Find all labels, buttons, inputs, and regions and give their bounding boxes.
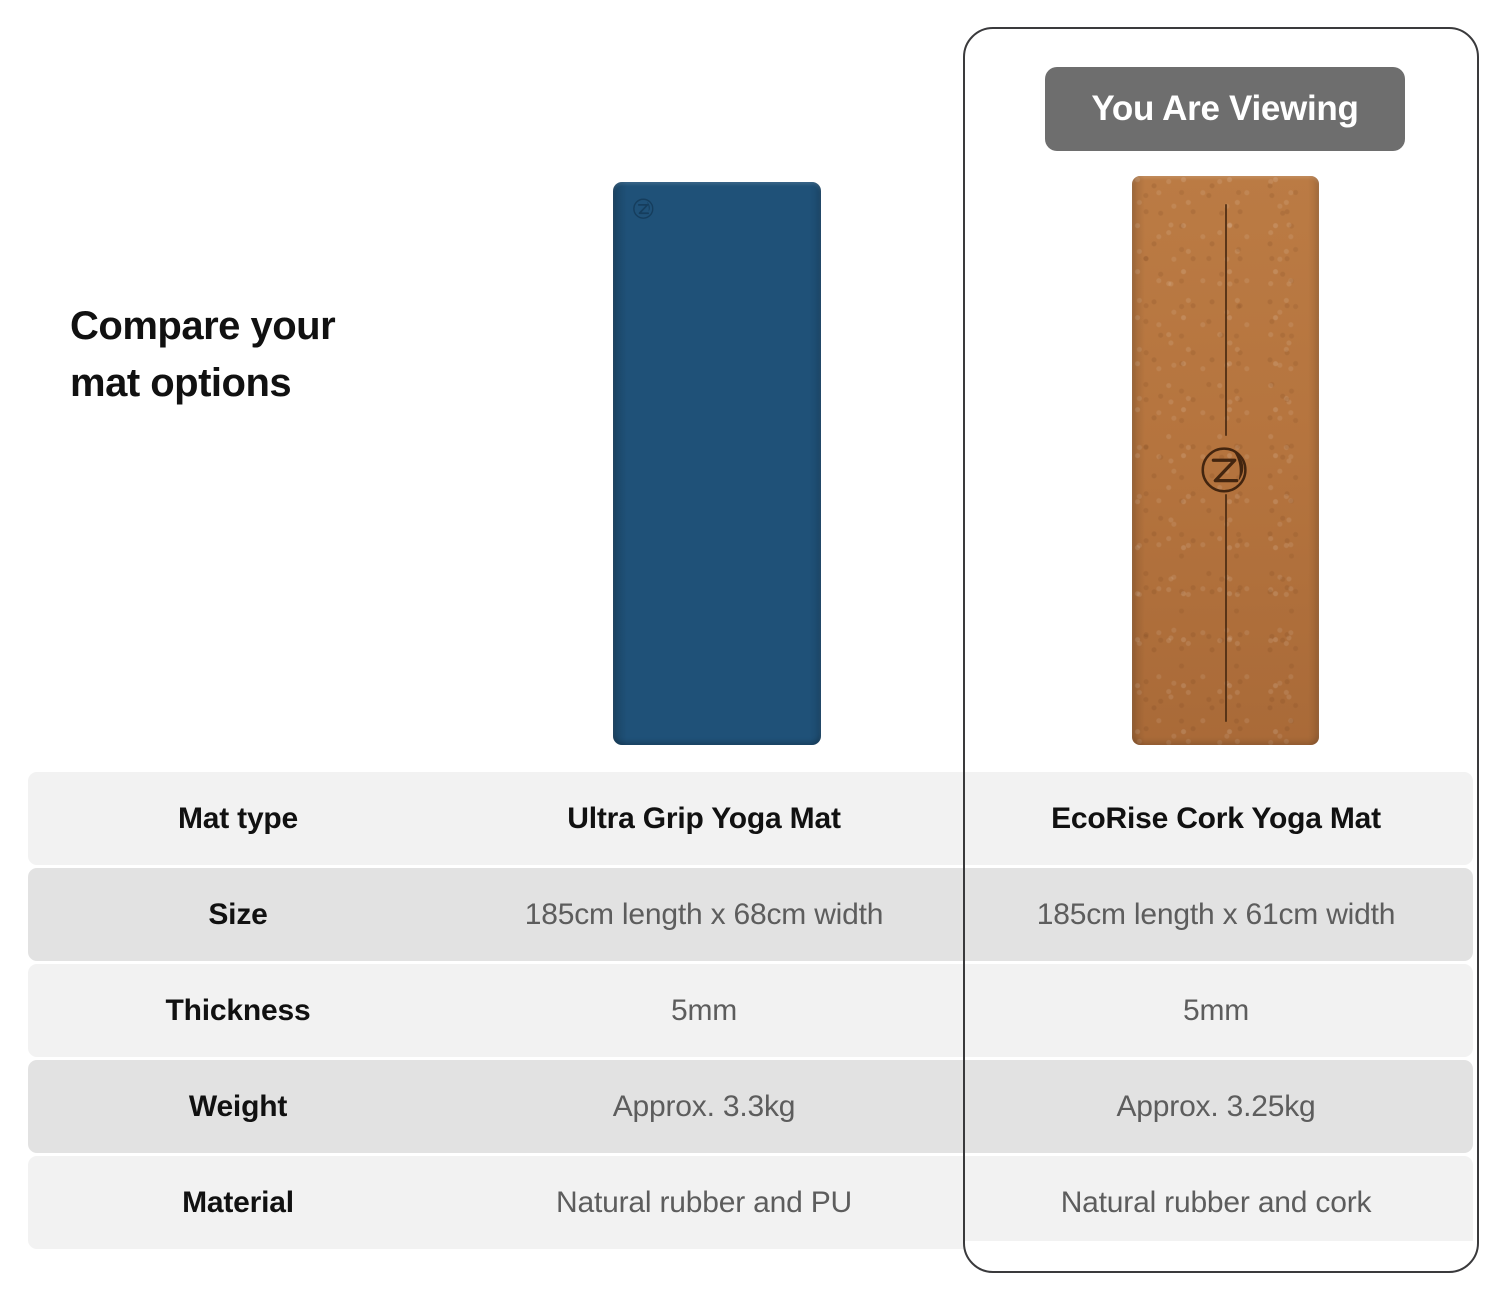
row-value-ultra-grip: 5mm — [448, 964, 960, 1057]
table-row: Mat type Ultra Grip Yoga Mat EcoRise Cor… — [28, 772, 1473, 865]
status-badge: You Are Viewing — [1045, 67, 1405, 151]
table-row: Weight Approx. 3.3kg Approx. 3.25kg — [28, 1060, 1473, 1153]
row-label: Weight — [28, 1060, 448, 1153]
row-value-ecorise-cork: Approx. 3.25kg — [960, 1060, 1472, 1153]
mat-alignment-line-upper — [1225, 204, 1227, 436]
row-label: Thickness — [28, 964, 448, 1057]
comparison-table: Mat type Ultra Grip Yoga Mat EcoRise Cor… — [28, 772, 1473, 1252]
mat-comparison-page: Compare your mat options Mat type Ultra … — [0, 0, 1500, 1313]
product-image-ultra-grip-yoga-mat[interactable] — [613, 182, 821, 745]
row-value-ecorise-cork: 185cm length x 61cm width — [960, 868, 1472, 961]
row-value-ultra-grip: Approx. 3.3kg — [448, 1060, 960, 1153]
page-title-line-2: mat options — [70, 355, 500, 412]
page-title: Compare your mat options — [70, 298, 500, 412]
z-leaf-logo-icon — [1195, 438, 1257, 500]
row-value-ecorise-cork: EcoRise Cork Yoga Mat — [960, 772, 1472, 865]
row-label: Material — [28, 1156, 448, 1249]
page-title-line-1: Compare your — [70, 298, 500, 355]
table-row: Thickness 5mm 5mm — [28, 964, 1473, 1057]
product-image-ecorise-cork-yoga-mat[interactable] — [1132, 176, 1319, 745]
row-label: Mat type — [28, 772, 448, 865]
row-value-ecorise-cork: 5mm — [960, 964, 1472, 1057]
row-label: Size — [28, 868, 448, 961]
row-value-ecorise-cork: Natural rubber and cork — [960, 1156, 1472, 1249]
mat-alignment-line-lower — [1225, 494, 1227, 722]
z-leaf-logo-icon — [630, 194, 658, 222]
table-row: Material Natural rubber and PU Natural r… — [28, 1156, 1473, 1249]
row-value-ultra-grip: Natural rubber and PU — [448, 1156, 960, 1249]
status-badge-label: You Are Viewing — [1091, 89, 1358, 129]
row-value-ultra-grip: 185cm length x 68cm width — [448, 868, 960, 961]
table-row: Size 185cm length x 68cm width 185cm len… — [28, 868, 1473, 961]
card-bottom-spacer — [964, 1241, 1478, 1272]
row-value-ultra-grip: Ultra Grip Yoga Mat — [448, 772, 960, 865]
